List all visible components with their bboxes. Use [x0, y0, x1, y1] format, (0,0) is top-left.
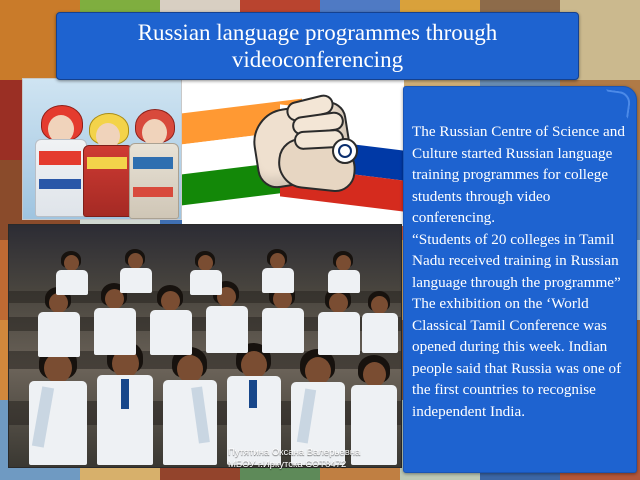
author-credit: Путятина Оксана Валерьевна МБОУ г.Иркутс…	[228, 447, 418, 470]
panel-corner-curl-icon	[602, 89, 631, 118]
body-paragraph-1: The Russian Centre of Science and Cultur…	[412, 121, 630, 229]
indian-students-classroom-photo	[8, 224, 402, 468]
body-text-block: The Russian Centre of Science and Cultur…	[412, 121, 630, 422]
slide-title-banner: Russian language programmes through vide…	[56, 12, 579, 80]
india-russia-handshake-flags-image	[182, 80, 404, 226]
ashoka-chakra-inner	[338, 144, 352, 158]
russian-folk-costume-photo	[22, 78, 182, 220]
author-credit-line-2: МБОУ г.Иркутска СОТ8472	[228, 459, 418, 471]
page-title: Russian language programmes through vide…	[57, 19, 578, 73]
body-text-panel: The Russian Centre of Science and Cultur…	[403, 86, 637, 473]
author-credit-line-1: Путятина Оксана Валерьевна	[228, 447, 418, 459]
body-paragraph-3: The exhibition on the ‘World Classical T…	[412, 293, 630, 422]
body-paragraph-2: “Students of 20 colleges in Tamil Nadu r…	[412, 229, 630, 294]
slide-canvas: Russian language programmes through vide…	[0, 0, 640, 480]
